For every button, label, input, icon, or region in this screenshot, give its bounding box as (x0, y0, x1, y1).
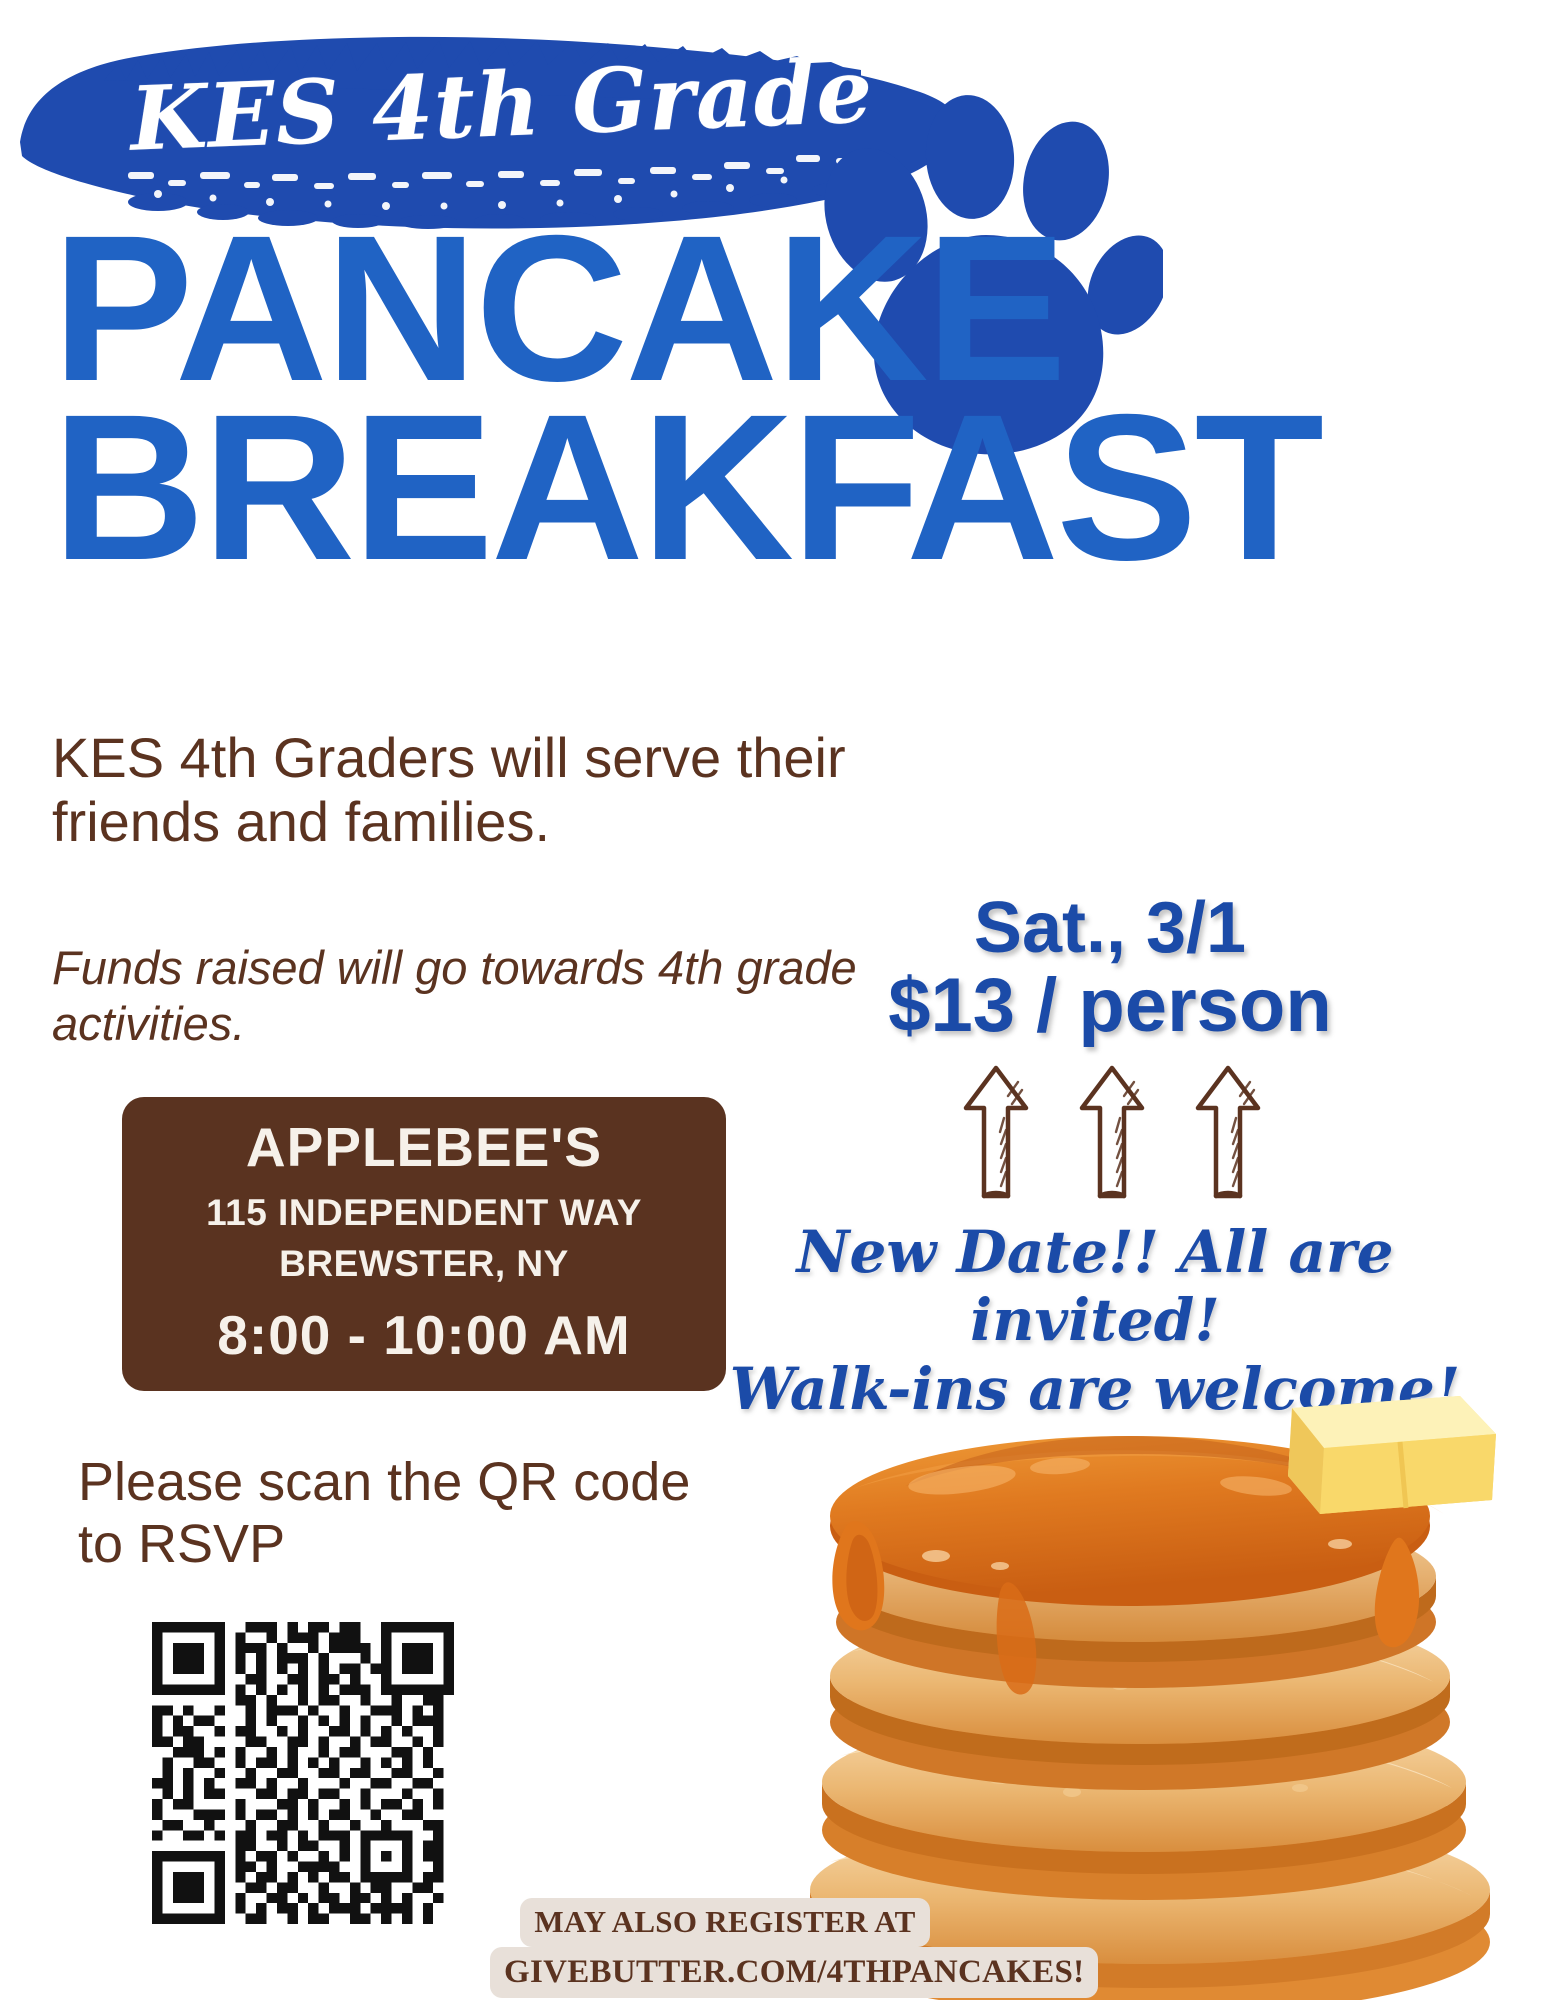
pancake-breakfast-flyer: KES 4th Grade PANCAKE BREAKFAST KES 4th … (0, 0, 1545, 2000)
venue-time: 8:00 - 10:00 AM (132, 1303, 716, 1367)
venue-address-line1: 115 INDEPENDENT WAY (132, 1188, 716, 1238)
headline-line-2: BREAKFAST (52, 399, 1072, 578)
footer-line-1: MAY ALSO REGISTER AT (520, 1898, 929, 1947)
venue-info-box: APPLEBEE'S 115 INDEPENDENT WAY BREWSTER,… (122, 1097, 726, 1391)
venue-name: APPLEBEE'S (132, 1117, 716, 1178)
venue-address-line2: BREWSTER, NY (132, 1239, 716, 1289)
event-date: Sat., 3/1 (760, 890, 1460, 966)
up-arrow-icon (960, 1060, 1300, 1200)
footer-line-2: GIVEBUTTER.COM/4THPANCAKES! (490, 1947, 1098, 1999)
qr-code-icon[interactable] (152, 1622, 454, 1924)
rsvp-instruction: Please scan the QR code to RSVP (78, 1452, 698, 1575)
serve-description: KES 4th Graders will serve their friends… (52, 726, 972, 854)
page-title: PANCAKE BREAKFAST (52, 220, 1072, 578)
event-date-price: Sat., 3/1 $13 / person (760, 890, 1460, 1047)
footer-register-note: MAY ALSO REGISTER AT GIVEBUTTER.COM/4THP… (490, 1898, 960, 1998)
event-price: $13 / person (760, 966, 1460, 1047)
